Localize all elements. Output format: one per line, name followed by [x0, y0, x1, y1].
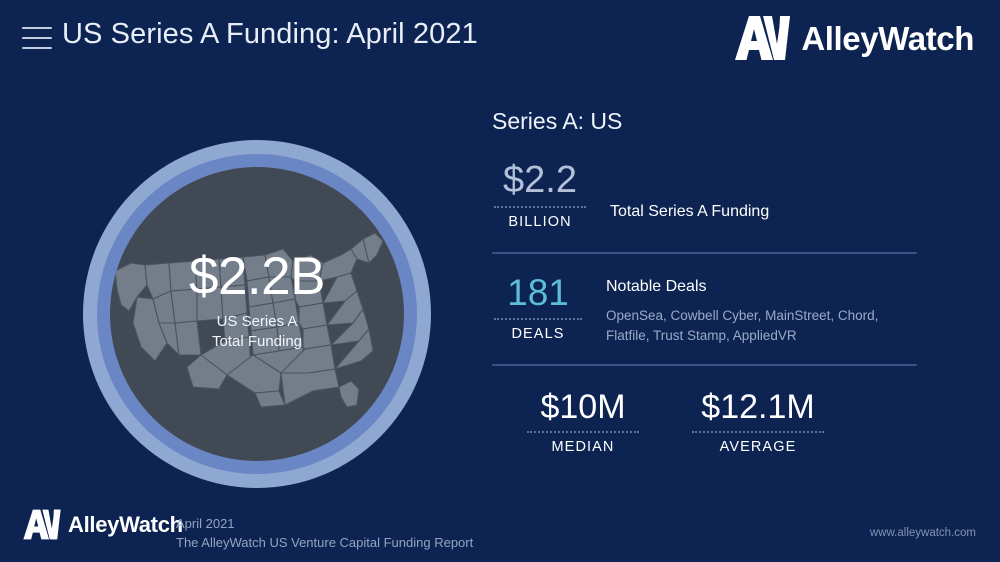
average-value: $12.1M [687, 390, 829, 424]
dotted-rule [494, 206, 586, 208]
deals-body: Notable Deals OpenSea, Cowbell Cyber, Ma… [606, 278, 906, 345]
hamburger-line [22, 27, 52, 29]
dotted-rule [527, 431, 639, 433]
dotted-rule [692, 431, 824, 433]
footer-url[interactable]: www.alleywatch.com [870, 527, 976, 539]
circle-disc [110, 167, 404, 461]
brand-logo-header: AlleyWatch [733, 14, 974, 62]
footer-meta: April 2021 The AlleyWatch US Venture Cap… [176, 515, 473, 553]
footer-report-title: The AlleyWatch US Venture Capital Fundin… [176, 534, 473, 553]
panel-divider [492, 364, 917, 366]
page-footer: AlleyWatch April 2021 The AlleyWatch US … [0, 496, 1000, 562]
page-title: US Series A Funding: April 2021 [62, 18, 478, 51]
hamburger-icon[interactable] [22, 27, 52, 49]
average-unit: AVERAGE [687, 439, 829, 455]
us-map-icon [110, 219, 404, 409]
footer-date: April 2021 [176, 515, 473, 534]
total-metric: $2.2 BILLION [492, 161, 588, 230]
median-metric: $10M MEDIAN [523, 390, 643, 455]
hamburger-line [22, 37, 52, 39]
panel-divider [492, 252, 917, 254]
total-value: $2.2 [492, 161, 588, 199]
total-funding-circle: $2.2B US Series A Total Funding [83, 140, 431, 488]
panel-title: Series A: US [492, 108, 920, 135]
deals-value: 181 [492, 274, 584, 311]
brand-wordmark: AlleyWatch [801, 22, 974, 55]
page-header: US Series A Funding: April 2021 AlleyWat… [0, 0, 1000, 90]
stat-row-median-average: $10M MEDIAN $12.1M AVERAGE [492, 390, 920, 455]
deals-unit: DEALS [492, 326, 584, 342]
brand-logo-footer: AlleyWatch [22, 508, 183, 541]
alleywatch-mark-icon [22, 508, 64, 541]
median-value: $10M [523, 390, 643, 424]
hamburger-line [22, 47, 52, 49]
average-metric: $12.1M AVERAGE [687, 390, 829, 455]
brand-wordmark: AlleyWatch [68, 514, 183, 536]
stat-row-total: $2.2 BILLION Total Series A Funding [492, 161, 920, 230]
dotted-rule [494, 318, 582, 320]
alleywatch-mark-icon [733, 14, 795, 62]
stats-panel: Series A: US $2.2 BILLION Total Series A… [492, 108, 920, 455]
stat-row-deals: 181 DEALS Notable Deals OpenSea, Cowbell… [492, 274, 920, 345]
median-unit: MEDIAN [523, 439, 643, 455]
deals-heading: Notable Deals [606, 278, 906, 296]
total-label: Total Series A Funding [610, 203, 769, 221]
deals-metric: 181 DEALS [492, 274, 584, 342]
deals-list: OpenSea, Cowbell Cyber, MainStreet, Chor… [606, 306, 906, 345]
total-unit: BILLION [492, 214, 588, 230]
